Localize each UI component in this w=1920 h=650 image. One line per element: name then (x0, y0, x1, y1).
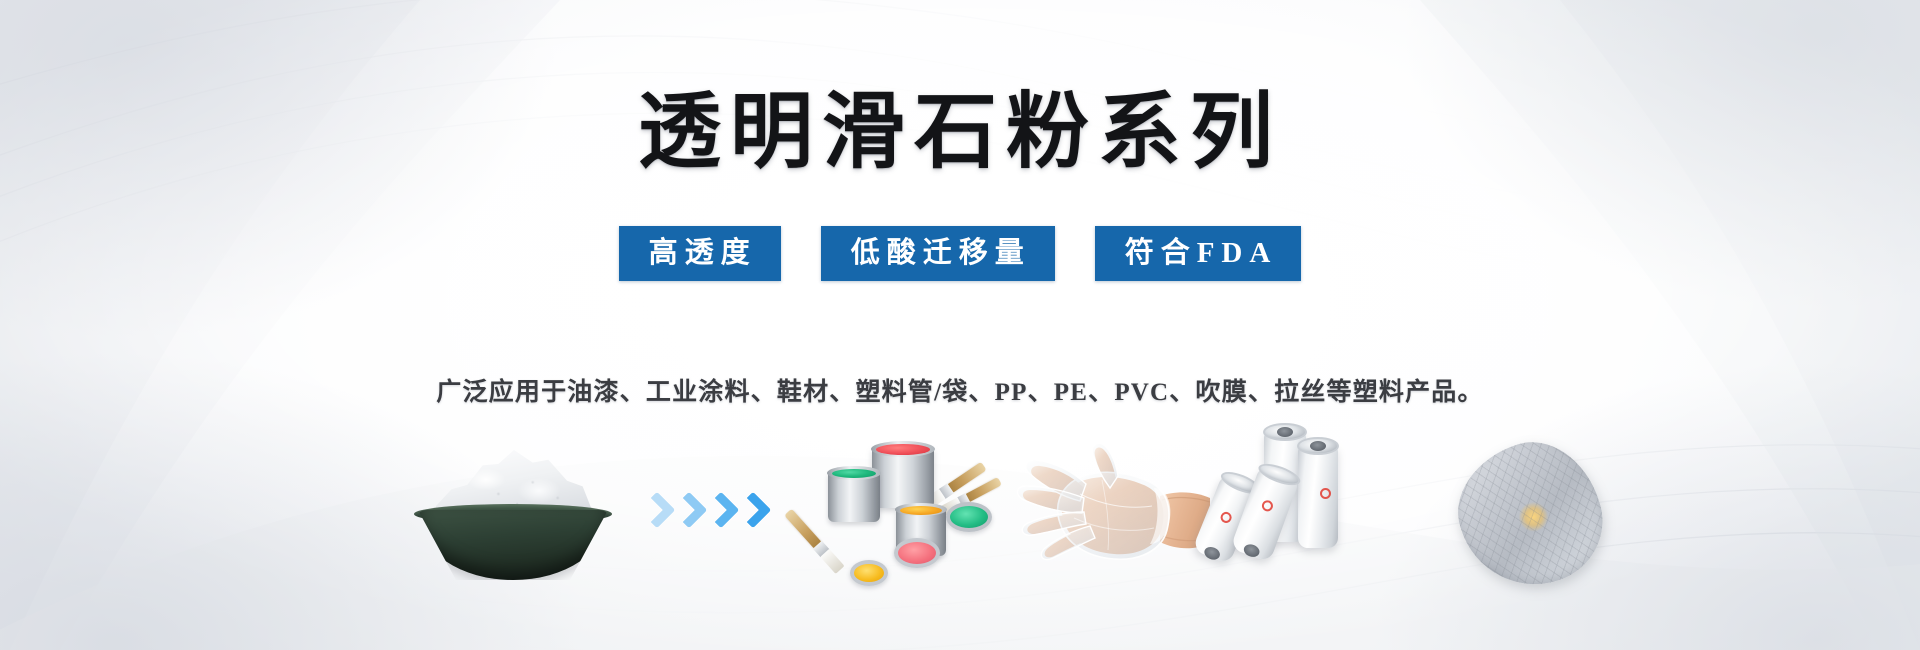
bowl-body (418, 510, 608, 580)
badge-low-acid-migration[interactable]: 低酸迁移量 (821, 226, 1055, 281)
chevron-right-icon (704, 490, 734, 532)
gloved-hand-image (1010, 444, 1210, 584)
paint-cans-image (800, 420, 990, 600)
talc-powder-bowl-image (410, 448, 615, 578)
product-banner: 透明滑石粉系列 高透度 低酸迁移量 符合FDA 广泛应用于油漆、工业涂料、鞋材、… (0, 0, 1920, 650)
badge-high-transparency[interactable]: 高透度 (619, 226, 781, 281)
film-roll (1298, 444, 1338, 548)
paint-lid-yellow (850, 560, 888, 586)
shoe-sole-texture (1441, 426, 1618, 604)
chevron-right-icon (672, 490, 702, 532)
chevron-right-icon (640, 490, 670, 532)
badge-fda-compliant[interactable]: 符合FDA (1095, 226, 1302, 281)
paint-can-green (828, 460, 880, 522)
film-rolls-image (1200, 430, 1390, 590)
paint-can-red (872, 434, 934, 508)
shoe-sole-image (1460, 444, 1600, 586)
banner-title: 透明滑石粉系列 (0, 88, 1920, 178)
product-image-row (0, 420, 1920, 605)
process-arrows-icon (640, 488, 790, 534)
banner-subtitle: 广泛应用于油漆、工业涂料、鞋材、塑料管/袋、PP、PE、PVC、吹膜、拉丝等塑料… (0, 372, 1920, 408)
paint-lid-green (946, 502, 992, 532)
paint-lid-pink (894, 538, 940, 568)
chevron-right-icon (736, 490, 766, 532)
feature-badge-list: 高透度 低酸迁移量 符合FDA (0, 226, 1920, 281)
